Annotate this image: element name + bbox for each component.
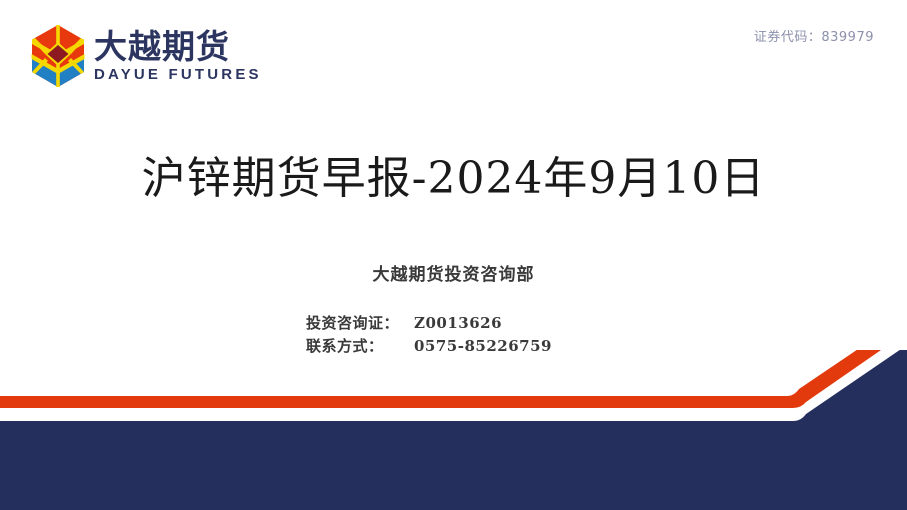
contact-row-phone: 联系方式： 0575-85226759	[306, 335, 552, 358]
page-title: 沪锌期货早报-2024年9月10日	[0, 142, 907, 206]
footer-navy-band	[0, 350, 907, 510]
brand-name-en: DAYUE FUTURES	[94, 66, 262, 84]
license-value: Z0013626	[414, 312, 502, 335]
license-label: 投资咨询证：	[306, 312, 414, 335]
stock-code-label: 证券代码：839979	[754, 26, 874, 45]
brand-wordmark: 大越期货 DAYUE FUTURES	[94, 28, 262, 85]
brand-name-cn: 大越期货	[94, 30, 262, 65]
dayue-hexagon-cube-logo-icon	[30, 24, 86, 88]
contact-info: 投资咨询证： Z0013626 联系方式： 0575-85226759	[306, 312, 552, 359]
report-cover-slide: 大越期货 DAYUE FUTURES 证券代码：839979 沪锌期货早报-20…	[0, 0, 907, 510]
department-label: 大越期货投资咨询部	[0, 260, 907, 285]
footer-decoration	[0, 350, 907, 510]
footer-orange-stripe	[0, 350, 907, 408]
contact-row-license: 投资咨询证： Z0013626	[306, 312, 552, 335]
brand-logo: 大越期货 DAYUE FUTURES	[30, 24, 262, 88]
phone-label: 联系方式：	[306, 335, 414, 358]
phone-value: 0575-85226759	[414, 335, 552, 358]
